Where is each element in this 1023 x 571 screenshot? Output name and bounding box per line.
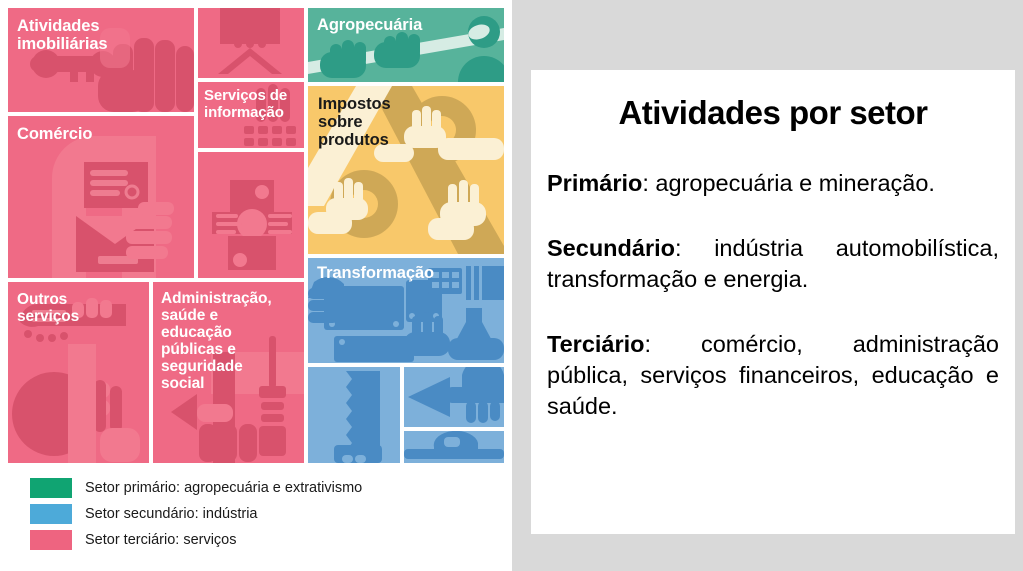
paragraph-separator-terciario: : <box>645 331 701 357</box>
tile-label-transformacao: Transformação <box>317 264 504 282</box>
paragraph-term-primario: Primário <box>547 170 642 196</box>
legend: Setor primário: agropecuária e extrativi… <box>8 465 504 563</box>
treemap-tile-agropecuaria[interactable]: Agropecuária <box>308 8 504 82</box>
tile-label-outros-servicos: Outros serviços <box>17 291 149 325</box>
paragraph-primario: Primário: agropecuária e mineração. <box>545 168 1001 199</box>
network-node-icon <box>198 152 304 278</box>
treemap-tile-administracao-saude-educacao[interactable]: Administração, saúde e educação públicas… <box>153 282 304 463</box>
legend-item-primario: Setor primário: agropecuária e extrativi… <box>30 475 504 501</box>
paragraph-separator-secundario: : <box>675 235 714 261</box>
treemap-chart: Atividades imobiliárias <box>8 8 504 463</box>
treemap-tile-impostos-sobre-produtos[interactable]: Impostos sobre produtos <box>308 86 504 254</box>
paragraph-terciario: Terciário: comércio, administração públi… <box>545 329 1001 422</box>
antenna-icon <box>198 8 304 78</box>
treemap-tile-transformacao[interactable]: Transformação <box>308 258 504 363</box>
paragraph-spacer-1 <box>545 199 1001 233</box>
legend-label-secundario: Setor secundário: indústria <box>85 506 258 522</box>
paragraph-term-terciario: Terciário <box>547 331 645 357</box>
legend-item-secundario: Setor secundário: indústria <box>30 501 504 527</box>
legend-swatch-primario <box>30 478 72 498</box>
treemap-tile-atividades-imobiliarias[interactable]: Atividades imobiliárias <box>8 8 194 112</box>
tile-label-agropecuaria: Agropecuária <box>317 16 504 34</box>
treemap-tile-industria-serra[interactable] <box>308 367 400 463</box>
tile-label-comercio: Comércio <box>17 125 194 143</box>
paragraph-body-primario: agropecuária e mineração. <box>655 170 935 196</box>
treemap-tile-industria-faixa[interactable] <box>404 431 504 463</box>
paragraph-term-secundario: Secundário <box>547 235 675 261</box>
tile-label-atividades-imobiliarias: Atividades imobiliárias <box>17 17 194 53</box>
legend-label-primario: Setor primário: agropecuária e extrativi… <box>85 480 362 496</box>
legend-item-terciario: Setor terciário: serviços <box>30 527 504 553</box>
sector-description-card: Atividades por setor Primário: agropecuá… <box>531 70 1015 534</box>
paragraph-spacer-2 <box>545 295 1001 329</box>
legend-swatch-secundario <box>30 504 72 524</box>
treemap-tile-servicos-info-top[interactable] <box>198 8 304 78</box>
legend-swatch-terciario <box>30 530 72 550</box>
treemap-tile-comercio[interactable]: Comércio <box>8 116 194 278</box>
wrench-icon <box>404 431 504 463</box>
saw-icon <box>308 367 400 463</box>
paragraph-separator-primario: : <box>642 170 655 196</box>
treemap-tile-servicos-de-informacao[interactable]: Serviços de informação <box>198 82 304 148</box>
tile-label-servicos-de-informacao: Serviços de informação <box>204 88 304 121</box>
trowel-hand-icon <box>404 367 504 427</box>
page-title: Atividades por setor <box>545 94 1001 132</box>
infographic-card: Atividades imobiliárias <box>0 0 512 571</box>
tile-label-administracao-saude-educacao: Administração, saúde e educação públicas… <box>161 290 304 392</box>
treemap-tile-industria-espatula[interactable] <box>404 367 504 427</box>
treemap-tile-outros-servicos[interactable]: Outros serviços <box>8 282 149 463</box>
tile-label-impostos-sobre-produtos: Impostos sobre produtos <box>318 95 504 149</box>
sector-paragraphs: Primário: agropecuária e mineração. Secu… <box>545 168 1001 422</box>
paragraph-secundario: Secundário: indústria automobilística, t… <box>545 233 1001 295</box>
legend-label-terciario: Setor terciário: serviços <box>85 532 237 548</box>
treemap-tile-servicos-info-bottom[interactable] <box>198 152 304 278</box>
